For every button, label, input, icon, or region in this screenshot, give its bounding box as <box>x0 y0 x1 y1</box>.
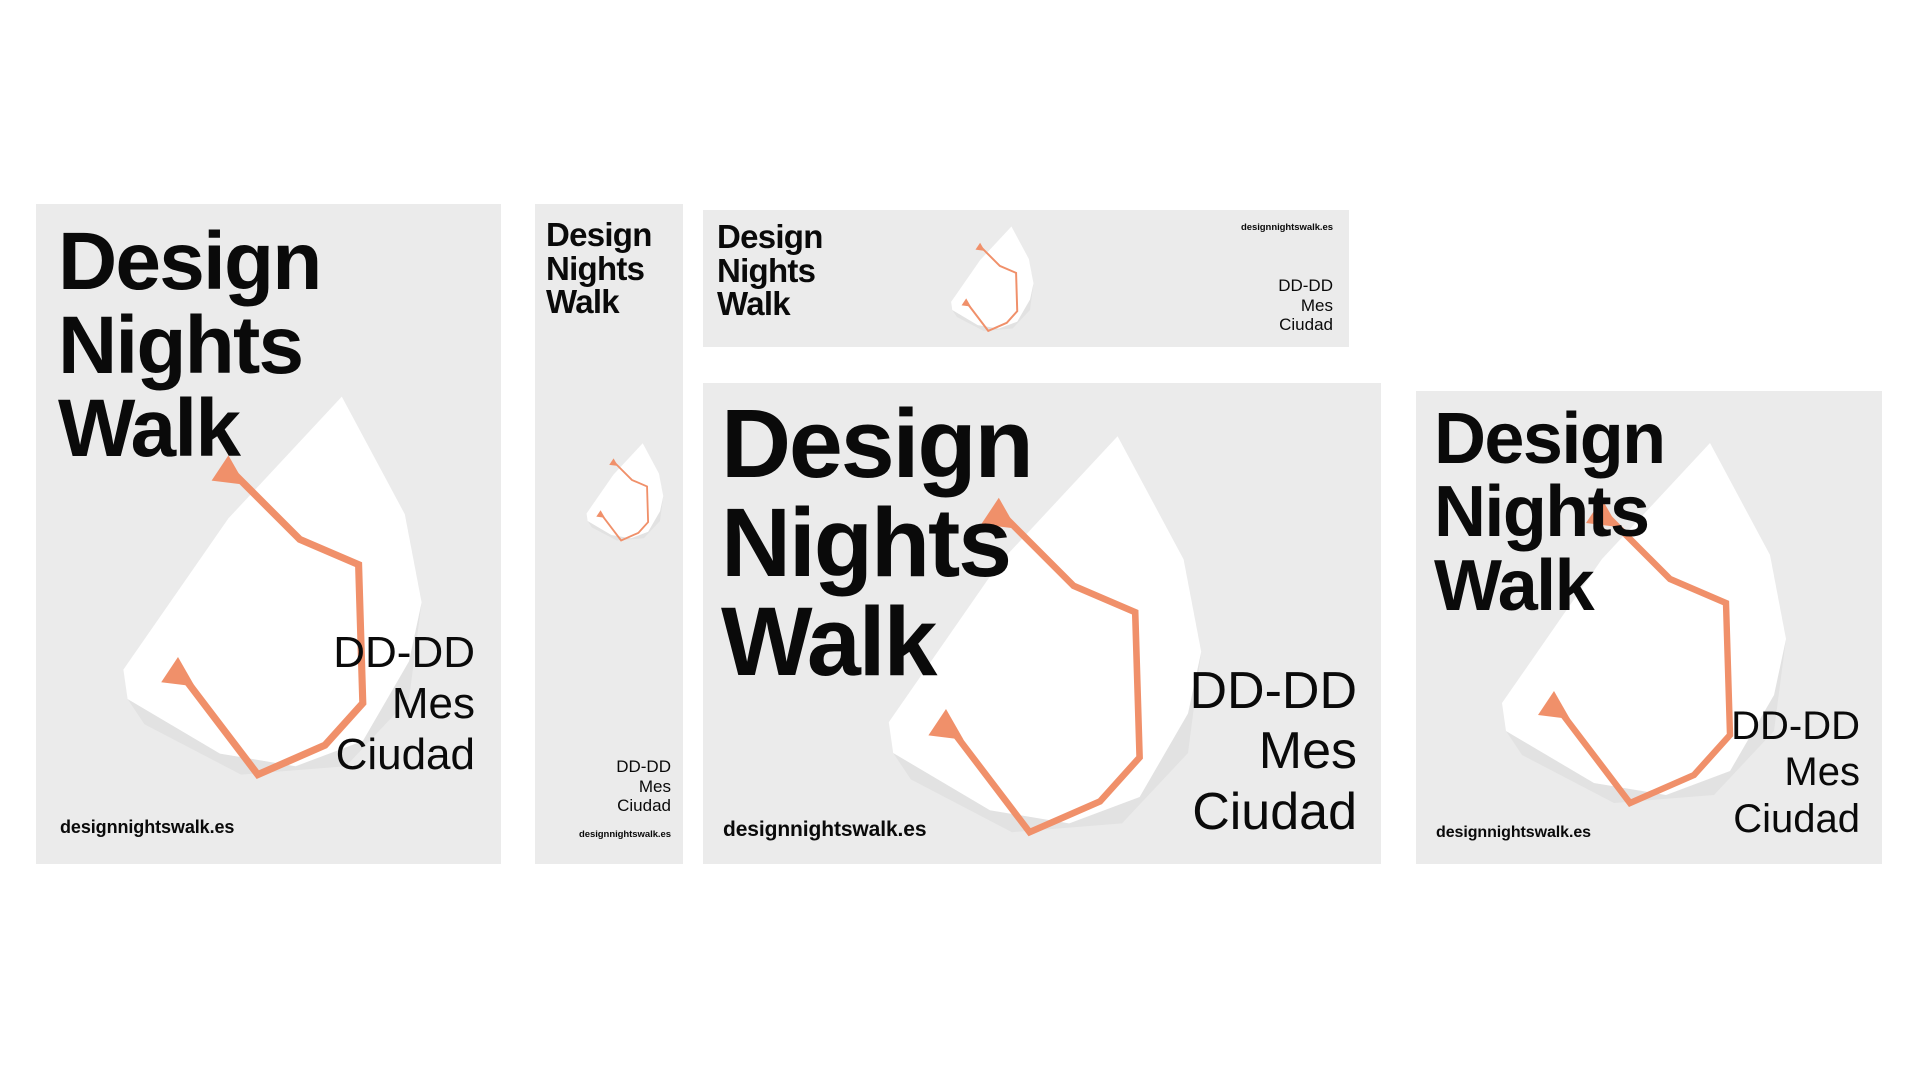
walk-route-line <box>966 246 1017 331</box>
map-island-polygon <box>951 226 1033 328</box>
city-walk-route-map <box>579 424 683 564</box>
route-waypoint-arrow-icon <box>161 657 195 686</box>
page-title: Design Nights Walk <box>717 220 823 321</box>
route-waypoint-arrow-icon <box>962 298 971 306</box>
event-meta: DD-DD Mes Ciudad <box>1189 661 1357 842</box>
artboard-tall-portrait-poster[interactable]: Design Nights Walk DD-DD Mes Ciudad desi… <box>36 204 501 864</box>
city-walk-route-map <box>943 220 1059 342</box>
event-meta: DD-DD Mes Ciudad <box>1278 276 1333 335</box>
page-title: Design Nights Walk <box>546 218 652 319</box>
website-url[interactable]: designnightswalk.es <box>1241 222 1333 233</box>
page-title: Design Nights Walk <box>1434 403 1665 623</box>
route-waypoint-arrow-icon <box>928 709 963 740</box>
artboard-large-landscape-poster[interactable]: Design Nights Walk DD-DD Mes Ciudad desi… <box>703 383 1381 864</box>
walk-route-line <box>601 462 649 541</box>
map-shadow-polygon <box>588 496 664 540</box>
event-meta: DD-DD Mes Ciudad <box>333 627 475 780</box>
website-url[interactable]: designnightswalk.es <box>723 818 926 842</box>
route-waypoint-arrow-icon <box>1538 691 1570 719</box>
page-title: Design Nights Walk <box>58 220 321 471</box>
route-start-arrow-icon <box>975 243 984 251</box>
artboard-canvas: Design Nights Walk DD-DD Mes Ciudad desi… <box>0 0 1920 1080</box>
artboard-wide-leaderboard-banner[interactable]: Design Nights Walk DD-DD Mes Ciudad desi… <box>703 210 1349 347</box>
map-shadow-polygon <box>952 283 1033 331</box>
artboard-vertical-skyscraper-banner[interactable]: Design Nights Walk DD-DD Mes Ciudad desi… <box>535 204 683 864</box>
artboard-square-poster[interactable]: Design Nights Walk DD-DD Mes Ciudad desi… <box>1416 391 1882 864</box>
route-start-arrow-icon <box>609 458 618 466</box>
map-island-polygon <box>587 443 664 538</box>
event-meta: DD-DD Mes Ciudad <box>1731 703 1860 842</box>
website-url[interactable]: designnightswalk.es <box>60 817 234 838</box>
website-url[interactable]: designnightswalk.es <box>1436 824 1591 842</box>
route-waypoint-arrow-icon <box>596 510 605 518</box>
page-title: Design Nights Walk <box>721 395 1032 692</box>
website-url[interactable]: designnightswalk.es <box>579 829 671 840</box>
event-meta: DD-DD Mes Ciudad <box>616 757 671 816</box>
